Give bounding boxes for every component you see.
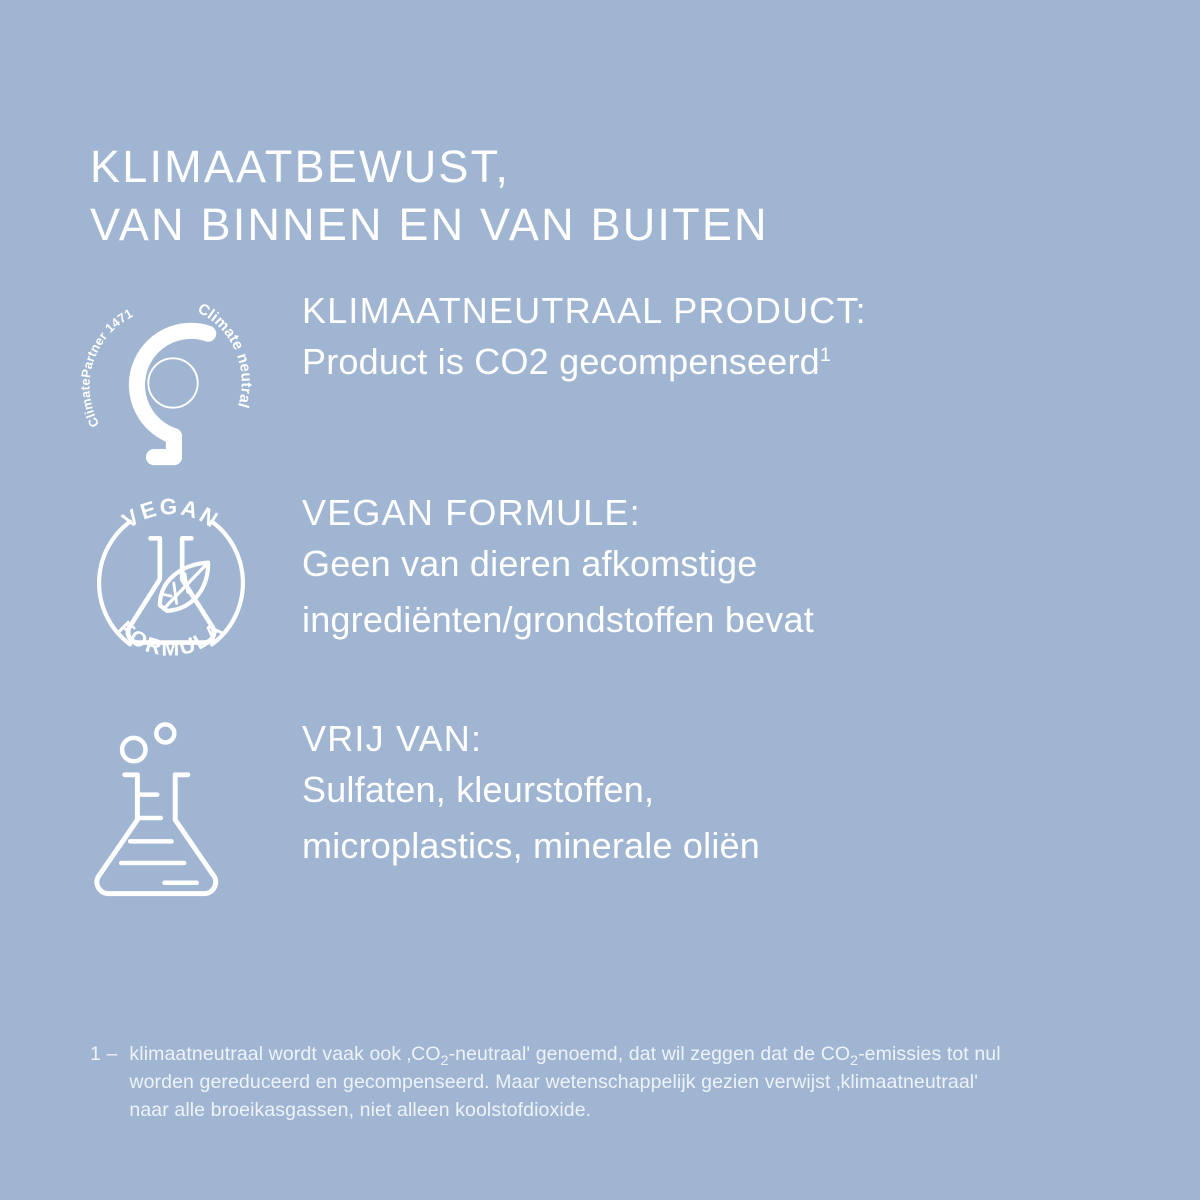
footnote-line-2: worden gereduceerd en gecompenseerd. Maa…: [129, 1068, 1160, 1096]
infographic-page: KLIMAATBEWUST, VAN BINNEN EN VAN BUITEN: [0, 0, 1200, 1200]
feature-climate-neutral: ClimatePartner 14717-2005-1001 Climate n…: [78, 288, 1128, 468]
footnote-line-1: klimaatneutraal wordt vaak ook ‚CO2-neut…: [129, 1040, 1160, 1068]
feature-free-from-body-line-1: Sulfaten, kleurstoffen,: [302, 762, 1122, 818]
page-title-line-2: VAN BINNEN EN VAN BUITEN: [90, 196, 769, 254]
feature-list: ClimatePartner 14717-2005-1001 Climate n…: [78, 288, 1128, 896]
feature-vegan-formula-body: Geen van dieren afkomstige ingrediënten/…: [302, 536, 1122, 648]
vegan-top-arc-text: VEGAN: [118, 494, 224, 533]
feature-vegan-formula-body-line-1: Geen van dieren afkomstige: [302, 536, 1122, 592]
svg-text:Climate neutral: Climate neutral: [195, 300, 255, 410]
feature-climate-neutral-title: KLIMAATNEUTRAAL PRODUCT:: [302, 288, 1122, 334]
page-title-line-1: KLIMAATBEWUST,: [90, 138, 769, 196]
feature-vegan-formula-title: VEGAN FORMULE:: [302, 490, 1122, 536]
footnote-line-1-part-b: -neutraal' genoemd, dat wil zeggen dat d…: [449, 1043, 851, 1065]
footnote: 1 – klimaatneutraal wordt vaak ook ‚CO2-…: [90, 1040, 1160, 1124]
footnote-subscript-a: 2: [441, 1052, 449, 1068]
cp-left-arc-text: ClimatePartner 14717-2005-1001: [74, 276, 135, 430]
feature-free-from-title: VRIJ VAN:: [302, 716, 1122, 762]
feature-free-from-body: Sulfaten, kleurstoffen, microplastics, m…: [302, 762, 1122, 874]
feature-climate-neutral-body: Product is CO2 gecompenseerd1: [302, 334, 1122, 390]
cp-right-arc-text: Climate neutral: [195, 300, 255, 410]
feature-vegan-formula-body-line-2: ingrediënten/grondstoffen bevat: [302, 592, 1122, 648]
footnote-marker: 1 –: [90, 1040, 117, 1124]
footnote-body: klimaatneutraal wordt vaak ook ‚CO2-neut…: [129, 1040, 1160, 1124]
vegan-formula-seal-icon: VEGAN FORMULA: [78, 490, 278, 690]
footnote-line-1-part-c: -emissies tot nul: [858, 1043, 1001, 1065]
climate-partner-seal-icon: ClimatePartner 14717-2005-1001 Climate n…: [78, 288, 278, 488]
footnote-line-3: naar alle broeikasgassen, niet alleen ko…: [129, 1096, 1160, 1124]
feature-free-from-body-line-2: microplastics, minerale oliën: [302, 818, 1122, 874]
footnote-line-1-part-a: klimaatneutraal wordt vaak ook ‚CO: [129, 1043, 440, 1065]
svg-text:ClimatePartner 14717-2005-1001: ClimatePartner 14717-2005-1001: [74, 276, 135, 430]
feature-free-from-text: VRIJ VAN: Sulfaten, kleurstoffen, microp…: [302, 716, 1122, 874]
page-title: KLIMAATBEWUST, VAN BINNEN EN VAN BUITEN: [90, 138, 769, 254]
footnote-ref-1: 1: [820, 344, 831, 366]
feature-vegan-formula-text: VEGAN FORMULE: Geen van dieren afkomstig…: [302, 490, 1122, 648]
feature-climate-neutral-body-line-1: Product is CO2 gecompenseerd: [302, 341, 820, 382]
vegan-bottom-arc-text: FORMULA: [113, 616, 229, 660]
svg-text:FORMULA: FORMULA: [113, 616, 229, 660]
flask-icon: [78, 716, 278, 916]
feature-vegan-formula: VEGAN FORMULA VEGAN FORMULE: Geen van di…: [78, 490, 1128, 670]
feature-climate-neutral-text: KLIMAATNEUTRAAL PRODUCT: Product is CO2 …: [302, 288, 1122, 390]
footnote-subscript-b: 2: [850, 1052, 858, 1068]
svg-text:VEGAN: VEGAN: [118, 494, 224, 533]
feature-free-from: VRIJ VAN: Sulfaten, kleurstoffen, microp…: [78, 716, 1128, 896]
